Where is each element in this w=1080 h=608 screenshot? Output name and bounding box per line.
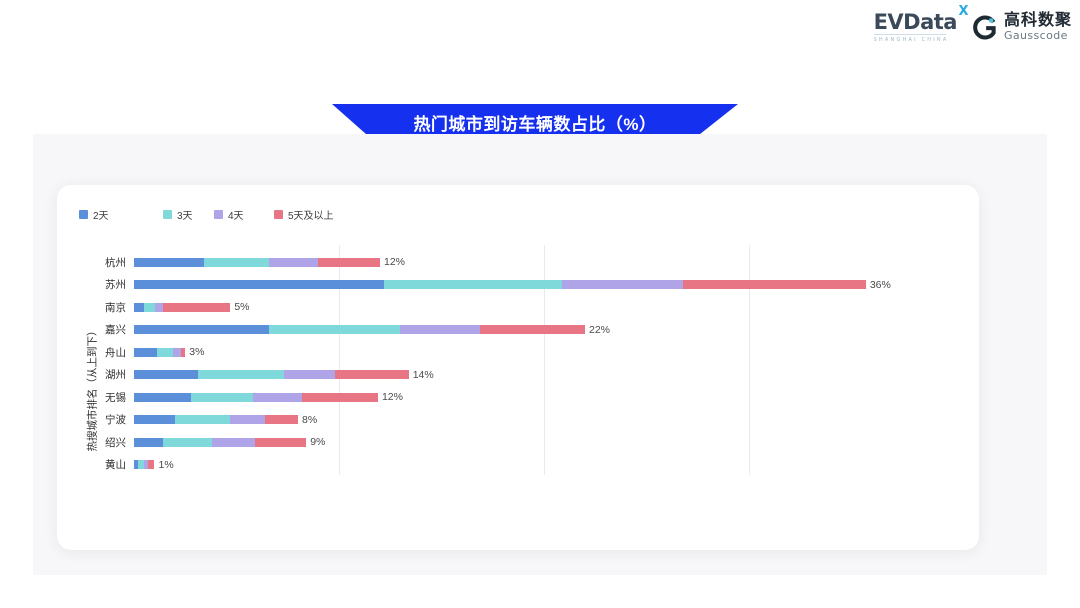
- bar-row[interactable]: 南京5%: [134, 296, 954, 319]
- bar-segment[interactable]: [155, 303, 163, 312]
- gausscode-text: 高科数聚 Gausscode: [1004, 13, 1072, 41]
- bar-value-label: 8%: [302, 414, 317, 426]
- bar-segment[interactable]: [253, 393, 302, 402]
- stacked-bar[interactable]: [134, 258, 380, 267]
- plot-area: 杭州12%苏州36%南京5%嘉兴22%舟山3%湖州14%无锡12%宁波8%绍兴9…: [134, 245, 954, 475]
- bar-segment[interactable]: [175, 415, 230, 424]
- evdata-rule: [874, 34, 946, 35]
- bar-value-label: 12%: [384, 256, 405, 268]
- bar-row[interactable]: 杭州12%: [134, 251, 954, 274]
- bar-segment[interactable]: [212, 438, 255, 447]
- bar-segment[interactable]: [134, 280, 384, 289]
- bar-segment[interactable]: [173, 348, 181, 357]
- y-axis-title: 热搜城市排名（从上到下）: [85, 293, 99, 483]
- bar-segment[interactable]: [480, 325, 585, 334]
- chart-card: 2天 3天 4天 5天及以上 热搜城市排名（从上到下） 杭州12%苏州3: [57, 185, 979, 550]
- evdata-wordmark: EVData X: [874, 12, 957, 33]
- bar-row-label: 南京: [105, 300, 126, 315]
- bar-row-label: 嘉兴: [105, 322, 126, 337]
- bar-row[interactable]: 苏州36%: [134, 274, 954, 297]
- bar-segment[interactable]: [181, 348, 185, 357]
- bar-segment[interactable]: [134, 415, 175, 424]
- bar-segment[interactable]: [134, 325, 269, 334]
- bar-segment[interactable]: [204, 258, 270, 267]
- bar-row[interactable]: 舟山3%: [134, 341, 954, 364]
- bar-segment[interactable]: [683, 280, 865, 289]
- legend-swatch-3d: [163, 210, 172, 219]
- gausscode-name-en: Gausscode: [1004, 30, 1072, 42]
- bar-segment[interactable]: [134, 303, 144, 312]
- stacked-bar[interactable]: [134, 415, 298, 424]
- bar-segment[interactable]: [230, 415, 265, 424]
- bar-row-label: 黄山: [105, 457, 126, 472]
- slide-root: EVData X SHANGHAI CHINA 高科数聚 Gausscode 热…: [0, 0, 1080, 608]
- bar-value-label: 5%: [234, 301, 249, 313]
- bar-row-label: 苏州: [105, 277, 126, 292]
- bar-segment[interactable]: [191, 393, 253, 402]
- bar-row-label: 杭州: [105, 255, 126, 270]
- stacked-bar[interactable]: [134, 303, 230, 312]
- bar-row-label: 宁波: [105, 412, 126, 427]
- legend-label-2d: 2天: [93, 207, 109, 222]
- legend-label-5d-plus: 5天及以上: [288, 207, 334, 222]
- bar-segment[interactable]: [400, 325, 480, 334]
- bar-segment[interactable]: [302, 393, 378, 402]
- evdata-subtitle: SHANGHAI CHINA: [874, 37, 949, 43]
- bar-row-label: 绍兴: [105, 435, 126, 450]
- gausscode-name-cn: 高科数聚: [1004, 13, 1072, 30]
- bar-segment[interactable]: [269, 325, 400, 334]
- stacked-bar[interactable]: [134, 460, 154, 469]
- bar-rows: 杭州12%苏州36%南京5%嘉兴22%舟山3%湖州14%无锡12%宁波8%绍兴9…: [134, 245, 954, 475]
- chart-legend: 2天 3天 4天 5天及以上: [79, 207, 499, 222]
- stacked-bar[interactable]: [134, 325, 585, 334]
- legend-swatch-4d: [214, 210, 223, 219]
- bar-segment[interactable]: [163, 438, 212, 447]
- bar-row-label: 无锡: [105, 390, 126, 405]
- bar-segment[interactable]: [134, 258, 204, 267]
- bar-segment[interactable]: [163, 303, 231, 312]
- legend-item-4d[interactable]: 4天: [214, 207, 274, 222]
- bar-segment[interactable]: [134, 348, 157, 357]
- bar-segment[interactable]: [335, 370, 409, 379]
- bar-segment[interactable]: [134, 393, 191, 402]
- y-axis-title-label: 热搜城市排名（从上到下）: [85, 325, 100, 451]
- bar-row-label: 舟山: [105, 345, 126, 360]
- bar-segment[interactable]: [318, 258, 380, 267]
- stacked-bar[interactable]: [134, 348, 185, 357]
- stacked-bar[interactable]: [134, 280, 866, 289]
- legend-label-3d: 3天: [177, 207, 193, 222]
- bar-row[interactable]: 宁波8%: [134, 409, 954, 432]
- bar-row[interactable]: 绍兴9%: [134, 431, 954, 454]
- bar-segment[interactable]: [384, 280, 562, 289]
- bar-segment[interactable]: [255, 438, 306, 447]
- legend-item-3d[interactable]: 3天: [163, 207, 214, 222]
- header-logo-bar: EVData X SHANGHAI CHINA 高科数聚 Gausscode: [874, 12, 1072, 43]
- bar-value-label: 9%: [310, 436, 325, 448]
- bar-segment[interactable]: [134, 370, 198, 379]
- evdata-wordmark-text: EVData: [874, 10, 957, 34]
- evdata-logo: EVData X SHANGHAI CHINA: [874, 12, 957, 43]
- bar-value-label: 14%: [413, 369, 434, 381]
- legend-item-2d[interactable]: 2天: [79, 207, 163, 222]
- bar-value-label: 22%: [589, 324, 610, 336]
- bar-segment[interactable]: [269, 258, 318, 267]
- bar-segment[interactable]: [148, 460, 154, 469]
- bar-segment[interactable]: [198, 370, 284, 379]
- bar-value-label: 3%: [189, 346, 204, 358]
- bar-row[interactable]: 嘉兴22%: [134, 319, 954, 342]
- stacked-bar-chart: 热搜城市排名（从上到下） 杭州12%苏州36%南京5%嘉兴22%舟山3%湖州14…: [57, 245, 979, 535]
- stacked-bar[interactable]: [134, 393, 378, 402]
- bar-segment[interactable]: [144, 303, 154, 312]
- bar-row-label: 湖州: [105, 367, 126, 382]
- bar-segment[interactable]: [265, 415, 298, 424]
- bar-row[interactable]: 黄山1%: [134, 454, 954, 477]
- legend-item-5d-plus[interactable]: 5天及以上: [274, 207, 394, 222]
- gausscode-logo: 高科数聚 Gausscode: [973, 13, 1072, 41]
- legend-label-4d: 4天: [228, 207, 244, 222]
- bar-segment[interactable]: [284, 370, 335, 379]
- evdata-x-icon: X: [958, 5, 968, 18]
- stacked-bar[interactable]: [134, 370, 409, 379]
- legend-swatch-2d: [79, 210, 88, 219]
- bar-value-label: 12%: [382, 391, 403, 403]
- bar-row[interactable]: 无锡12%: [134, 386, 954, 409]
- bar-segment[interactable]: [134, 438, 163, 447]
- bar-segment[interactable]: [562, 280, 683, 289]
- bar-row[interactable]: 湖州14%: [134, 364, 954, 387]
- bar-segment[interactable]: [157, 348, 173, 357]
- bar-value-label: 1%: [159, 459, 174, 471]
- bar-value-label: 36%: [870, 279, 891, 291]
- stacked-bar[interactable]: [134, 438, 306, 447]
- legend-swatch-5d-plus: [274, 210, 283, 219]
- gausscode-mark-icon: [973, 15, 998, 40]
